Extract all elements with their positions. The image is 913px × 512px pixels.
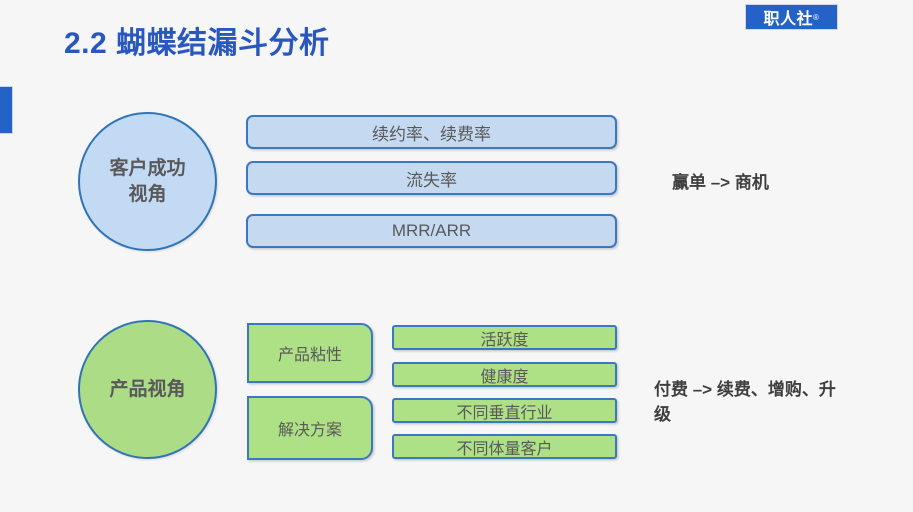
sub-metric-box-customer-size: 不同体量客户 xyxy=(392,434,617,459)
metric-label: 续约率、续费率 xyxy=(372,120,491,145)
customer-success-circle-line2: 视角 xyxy=(109,182,185,208)
note-payment-to-renewal: 付费 –> 续费、增购、升 级 xyxy=(654,378,854,427)
sub-metric-label: 不同垂直行业 xyxy=(456,399,552,423)
sub-metric-label: 活跃度 xyxy=(480,326,528,350)
sub-metric-box-health: 健康度 xyxy=(392,362,617,387)
note-line-2: 级 xyxy=(654,403,854,428)
sub-metric-label: 健康度 xyxy=(480,363,528,387)
product-view-circle-label: 产品视角 xyxy=(109,377,185,403)
sub-metric-box-activity: 活跃度 xyxy=(392,325,617,350)
page-title: 2.2 蝴蝶结漏斗分析 xyxy=(64,18,330,62)
pillar-label: 解决方案 xyxy=(278,416,342,440)
sub-metric-box-vertical-industry: 不同垂直行业 xyxy=(392,398,617,423)
left-accent-bar xyxy=(0,86,13,134)
metric-label: 流失率 xyxy=(406,166,457,191)
customer-success-circle-line1: 客户成功 xyxy=(109,156,185,182)
slide-canvas: 职人社® 2.2 蝴蝶结漏斗分析 客户成功 视角 续约率、续费率 流失率 MRR… xyxy=(0,0,913,512)
metric-box-churn-rate: 流失率 xyxy=(246,161,617,195)
brand-logo-text: 职人社 xyxy=(764,5,814,29)
product-view-circle: 产品视角 xyxy=(78,320,217,459)
brand-logo-badge: 职人社® xyxy=(745,4,838,30)
pillar-label: 产品粘性 xyxy=(278,341,342,365)
pillar-box-product-stickiness: 产品粘性 xyxy=(247,323,373,383)
metric-box-mrr-arr: MRR/ARR xyxy=(246,214,617,248)
sub-metric-label: 不同体量客户 xyxy=(456,435,552,459)
metric-box-renewal-rate: 续约率、续费率 xyxy=(246,115,617,149)
customer-success-circle: 客户成功 视角 xyxy=(78,112,217,251)
metric-label: MRR/ARR xyxy=(392,221,471,241)
pillar-box-solution: 解决方案 xyxy=(247,396,373,460)
note-line-1: 付费 –> 续费、增购、升 xyxy=(654,378,854,403)
note-win-to-opportunity: 赢单 –> 商机 xyxy=(672,171,769,196)
trademark-symbol: ® xyxy=(813,13,819,22)
